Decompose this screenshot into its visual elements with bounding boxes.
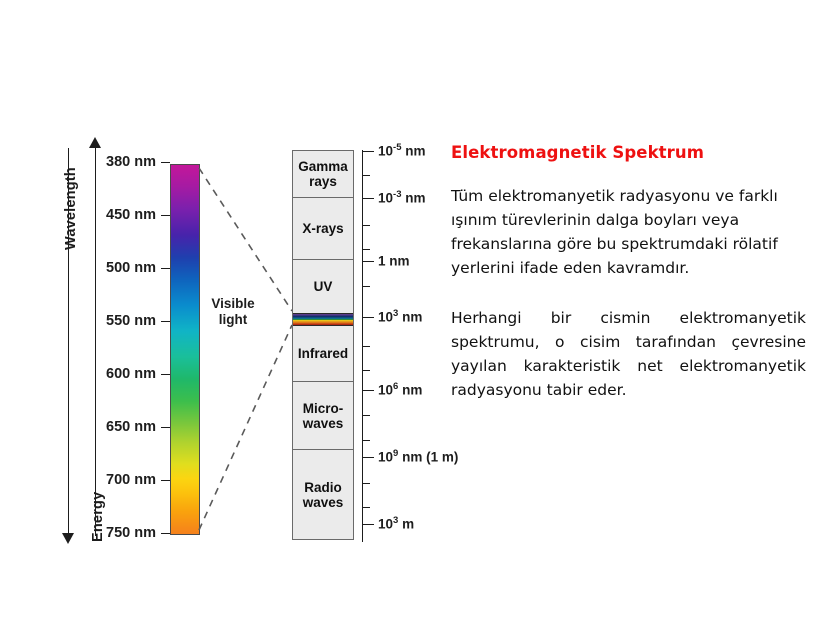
visible-light-caption-line1: Visible [203, 296, 263, 312]
em-scale-label-1: 10-3 nm [378, 191, 426, 206]
em-scale-label-3: 103 nm [378, 310, 422, 325]
wavelength-tick-label: 380 nm [106, 154, 156, 170]
wavelength-tick-label: 700 nm [106, 472, 156, 488]
paragraph-definition: Tüm elektromanyetik radyasyonu ve farklı… [451, 184, 806, 280]
em-scale-unit: nm [401, 191, 425, 206]
wavelength-tick-3: 550 nm [106, 313, 170, 329]
em-scale-unit: nm [398, 310, 422, 325]
em-band-label-line2: waves [303, 495, 344, 510]
em-band-label-line2: waves [303, 416, 344, 431]
em-scale-label-0: 10-5 nm [378, 144, 426, 159]
em-tick-major [363, 198, 374, 199]
em-band-label-line1: UV [314, 279, 333, 294]
tick-mark-icon [161, 480, 170, 481]
connector-line-top [199, 168, 292, 311]
em-scale-unit: nm [398, 383, 422, 398]
em-scale-base: 10 [378, 310, 393, 325]
connector-line-bottom [199, 325, 292, 530]
wavelength-tick-1: 450 nm [106, 207, 170, 223]
em-scale-label-5: 109 nm (1 m) [378, 450, 458, 465]
em-scale-unit: m [398, 517, 414, 532]
em-tick-minor [363, 346, 370, 347]
em-band-label-line1: Micro- [303, 401, 344, 416]
em-scale-unit: nm (1 m) [398, 450, 458, 465]
wavelength-tick-0: 380 nm [106, 154, 170, 170]
em-band-label-line1: Radio [303, 480, 344, 495]
wavelength-tick-7: 750 nm [106, 525, 170, 541]
em-tick-major [363, 390, 374, 391]
visible-spectrum-color-bar [170, 164, 200, 535]
em-tick-minor [363, 286, 370, 287]
paragraph-object-spectrum: Herhangi bir cismin elektromanyetik spek… [451, 306, 806, 402]
wavelength-tick-6: 700 nm [106, 472, 170, 488]
em-tick-major [363, 524, 374, 525]
tick-mark-icon [161, 268, 170, 269]
em-tick-minor [363, 249, 370, 250]
arrow-up-icon [89, 137, 101, 148]
em-tick-minor [363, 175, 370, 176]
em-band-gamma-rays[interactable]: Gamma rays [293, 151, 353, 198]
em-tick-minor [363, 415, 370, 416]
em-tick-major [363, 457, 374, 458]
wavelength-tick-label: 550 nm [106, 313, 156, 329]
em-scale-label-4: 106 nm [378, 383, 422, 398]
wavelength-axis-label: Wavelength [63, 167, 79, 250]
em-tick-major [363, 317, 374, 318]
tick-mark-icon [161, 162, 170, 163]
em-tick-major [363, 151, 374, 152]
em-tick-minor [363, 507, 370, 508]
em-tick-major [363, 261, 374, 262]
em-band-label-line1: Gamma [298, 159, 348, 174]
em-spectrum-column: Gamma rays X-rays UV Infrared Micro- wav… [292, 150, 354, 540]
tick-mark-icon [161, 374, 170, 375]
slide-canvas: Wavelength Energy 380 nm 450 nm 500 nm 5… [0, 0, 828, 621]
tick-mark-icon [161, 533, 170, 534]
em-tick-minor [363, 483, 370, 484]
wavelength-tick-label: 450 nm [106, 207, 156, 223]
em-band-radio-waves[interactable]: Radio waves [293, 450, 353, 539]
page-title: Elektromagnetik Spektrum [451, 143, 806, 162]
em-scale-base: 10 [378, 144, 393, 159]
em-tick-minor [363, 370, 370, 371]
em-band-label-line2: rays [298, 174, 348, 189]
em-scale-unit: nm [401, 144, 425, 159]
visible-light-caption-line2: light [203, 312, 263, 328]
em-band-infrared[interactable]: Infrared [293, 326, 353, 382]
tick-mark-icon [161, 427, 170, 428]
em-scale-base: 10 [378, 383, 393, 398]
wavelength-tick-label: 750 nm [106, 525, 156, 541]
tick-mark-icon [161, 215, 170, 216]
em-band-label-line1: Infrared [298, 346, 348, 361]
wavelength-tick-4: 600 nm [106, 366, 170, 382]
em-band-visible-light[interactable] [293, 313, 353, 326]
em-scale-unit: nm [386, 254, 410, 269]
em-scale-base: 10 [378, 191, 393, 206]
em-tick-minor [363, 440, 370, 441]
arrow-down-icon [62, 533, 74, 544]
em-scale-base: 1 [378, 254, 386, 269]
visible-light-caption: Visible light [203, 296, 263, 328]
em-band-uv[interactable]: UV [293, 260, 353, 313]
em-scale-base: 10 [378, 450, 393, 465]
tick-mark-icon [161, 321, 170, 322]
em-band-x-rays[interactable]: X-rays [293, 198, 353, 260]
wavelength-scale: 380 nm 450 nm 500 nm 550 nm 600 nm 650 n… [98, 150, 170, 542]
wavelength-tick-label: 600 nm [106, 366, 156, 382]
em-spectrum-scale-axis: 10-5 nm 10-3 nm 1 nm 103 nm 106 nm 109 n… [362, 150, 367, 542]
em-scale-base: 10 [378, 517, 393, 532]
wavelength-tick-5: 650 nm [106, 419, 170, 435]
wavelength-tick-label: 650 nm [106, 419, 156, 435]
energy-axis-line [95, 144, 96, 536]
wavelength-tick-2: 500 nm [106, 260, 170, 276]
em-band-label-line1: X-rays [302, 221, 343, 236]
text-panel: Elektromagnetik Spektrum Tüm elektromany… [451, 143, 806, 428]
em-band-microwaves[interactable]: Micro- waves [293, 382, 353, 450]
em-scale-label-2: 1 nm [378, 254, 410, 269]
wavelength-tick-label: 500 nm [106, 260, 156, 276]
em-tick-minor [363, 225, 370, 226]
em-scale-label-6: 103 m [378, 517, 414, 532]
